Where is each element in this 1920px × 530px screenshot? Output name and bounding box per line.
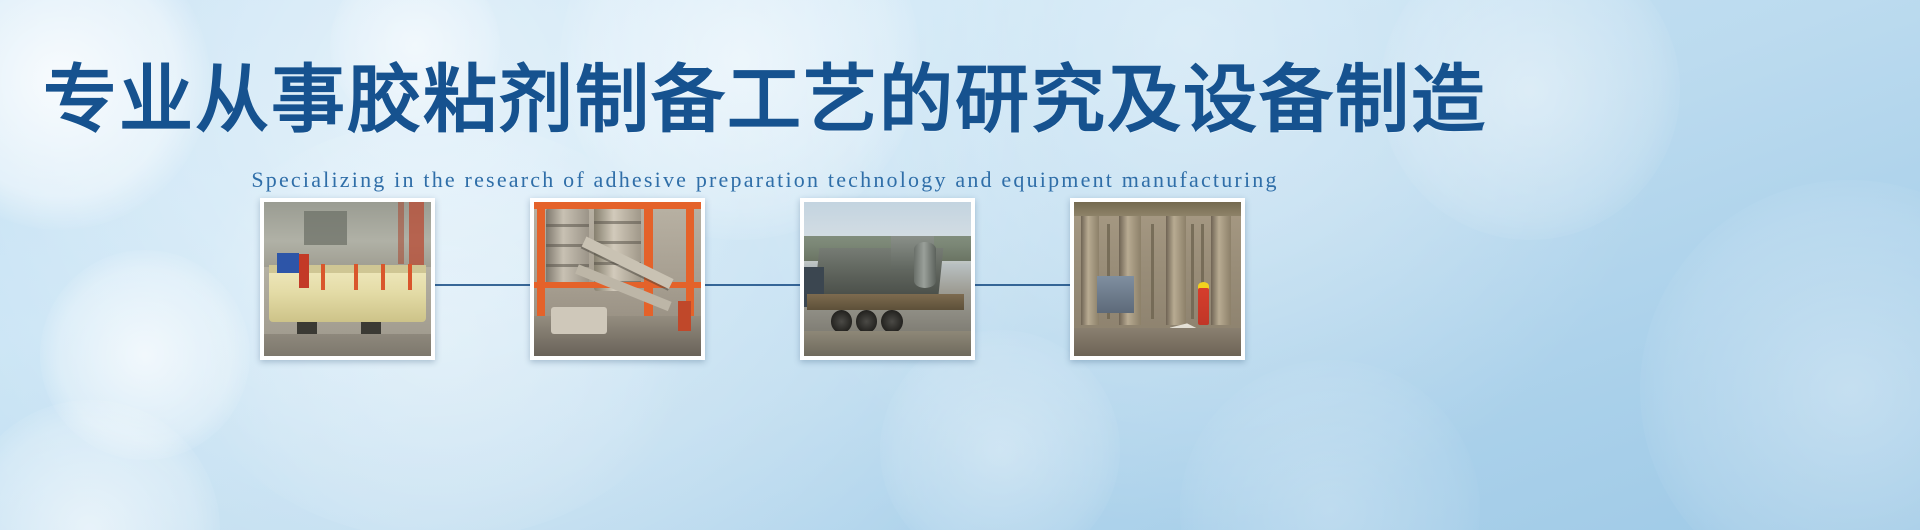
workshop-floor [264,334,431,356]
lid-clamp [321,264,325,290]
glue-mixer-photo[interactable] [260,198,435,360]
process-photo-strip: 拌胶机 [0,198,1530,373]
screw-conveyor-image [534,202,701,356]
connector-line-1 [435,284,530,286]
banner-subtitle: Specializing in the research of adhesive… [0,165,1530,195]
silo-ring [594,221,641,224]
trailer-wheel [856,310,878,333]
lid-clamp [354,264,358,290]
hero-banner: 专业从事胶粘剂制备工艺的研究及设备制造 Specializing in the … [0,0,1920,530]
elevator-machine [1097,276,1134,313]
banner-headline: 专业从事胶粘剂制备工艺的研究及设备制造 [0,55,1530,145]
red-equipment [678,301,691,332]
mixer-motor [277,253,299,273]
lid-clamp [408,264,412,290]
mixing-drum [551,307,608,335]
mixer-body [269,267,426,322]
vertical-pipe [1191,224,1194,319]
orange-frame-beam [534,202,701,209]
ground [804,331,971,356]
connector-line-3 [975,284,1070,286]
bokeh-circle [1640,180,1920,530]
bucket-elevator-image [1074,202,1241,356]
red-beam-secondary [398,202,405,264]
bokeh-circle [0,400,220,530]
washer-drum [914,242,936,288]
silo-ring [546,224,589,227]
worker-figure [1198,288,1210,325]
screw-conveyor-photo[interactable] [530,198,705,360]
trailer-wheel [881,310,903,333]
vertical-pipe [1151,224,1154,319]
wood-chip-washer-image [804,202,971,356]
structural-column [1081,202,1099,325]
structural-column [1166,202,1186,325]
bokeh-circle [1180,360,1480,530]
structural-column [1211,202,1231,325]
glue-mixer-image [264,202,431,356]
wood-chip-washer-photo[interactable] [800,198,975,360]
ceiling-beam [1074,202,1241,216]
connector-line-2 [705,284,800,286]
mixer-control-box [299,254,309,288]
wall-panel [304,211,347,245]
bucket-elevator-photo[interactable] [1070,198,1245,360]
truck-trailer-bed [807,294,964,309]
trailer-wheel [831,310,853,333]
factory-floor [1074,328,1241,356]
red-beam [409,202,424,273]
lid-clamp [381,264,385,290]
